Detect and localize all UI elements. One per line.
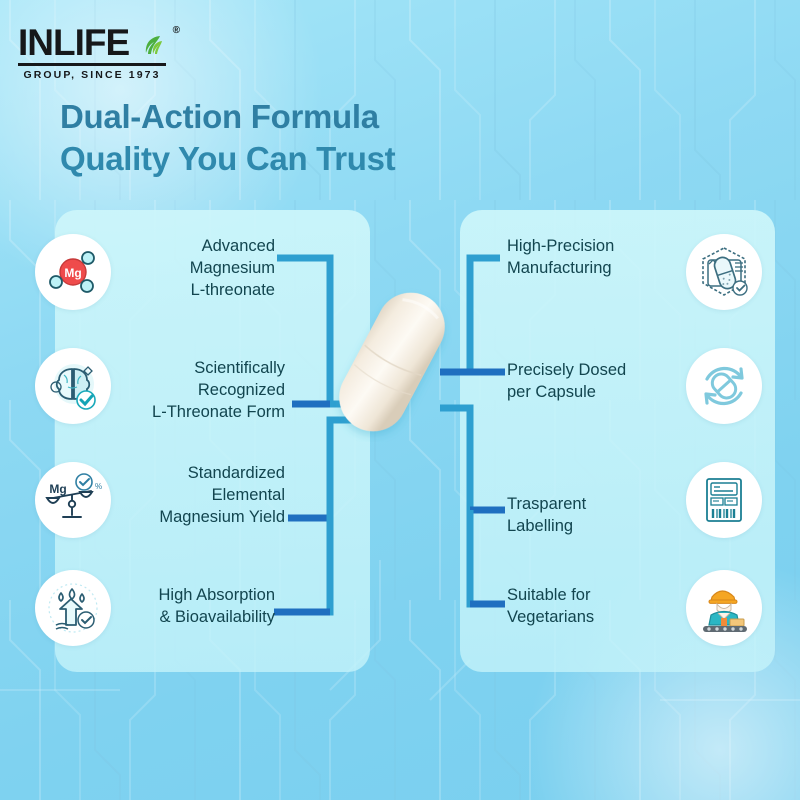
brand-name: INLIFE (18, 24, 129, 61)
leaf-icon (140, 32, 166, 58)
factory-worker-icon (686, 570, 762, 646)
headline-line-1: Dual-Action Formula (60, 96, 395, 138)
svg-text:Mg: Mg (64, 266, 81, 280)
feature-precisely-dosed-per-capsule: Precisely Dosed per Capsule (507, 360, 682, 404)
capsule-cycle-icon (686, 348, 762, 424)
feature-advanced-magnesium-l-threonate: Advanced Magnesium L-threonate (110, 236, 275, 302)
registered-mark: ® (173, 26, 179, 36)
page-title: Dual-Action Formula Quality You Can Trus… (60, 96, 395, 180)
feature-high-precision-manufacturing: High-Precision Manufacturing (507, 236, 682, 280)
svg-text:Mg: Mg (49, 482, 66, 496)
brand-wordmark: INLIFE ® (18, 24, 168, 61)
capsule-manufacturing-icon (686, 234, 762, 310)
headline-line-2: Quality You Can Trust (60, 138, 395, 180)
feature-suitable-for-vegetarians: Suitable for Vegetarians (507, 585, 682, 629)
brand-logo: INLIFE ® GROUP, SINCE 1973 (18, 24, 168, 81)
product-label-barcode-icon (686, 462, 762, 538)
feature-scientifically-recognized-l-threonate-form: Scientifically Recognized L-Threonate Fo… (95, 358, 285, 424)
feature-standardized-elemental-magnesium-yield: Standardized Elemental Magnesium Yield (95, 463, 285, 529)
feature-high-absorption-bioavailability: High Absorption & Bioavailability (95, 585, 275, 629)
infographic-canvas: INLIFE ® GROUP, SINCE 1973 Dual-Action F… (0, 0, 800, 800)
feature-trasparent-labelling: Trasparent Labelling (507, 494, 682, 538)
brand-tagline: GROUP, SINCE 1973 (18, 69, 166, 81)
logo-divider (18, 63, 166, 66)
magnesium-molecule-icon: Mg (35, 234, 111, 310)
